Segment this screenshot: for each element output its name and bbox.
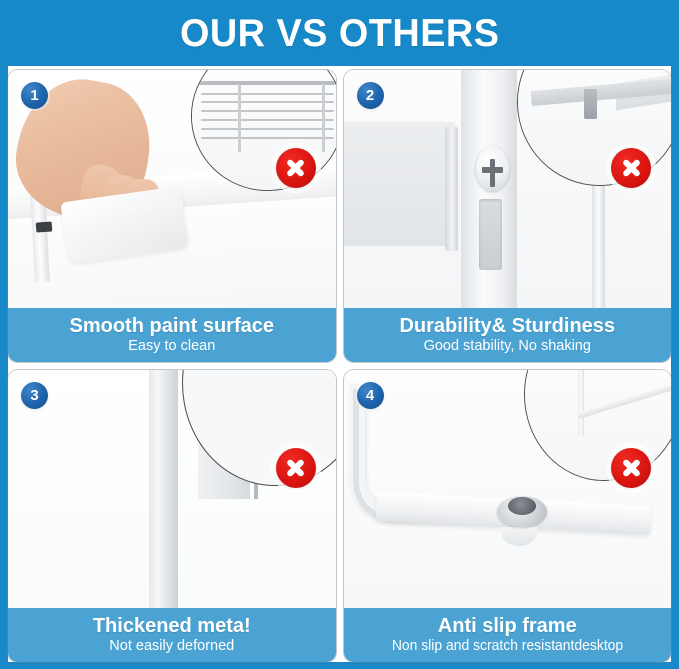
caption-title: Smooth paint surface (70, 315, 274, 337)
panel-number-badge: 4 (357, 382, 384, 409)
x-mark-icon (276, 448, 316, 488)
panel-number-badge: 3 (21, 382, 48, 409)
comparison-infographic: OUR VS OTHERS (0, 0, 679, 669)
caption-subtitle: Easy to clean (128, 338, 215, 355)
rack-wire (201, 110, 334, 112)
bottom-edge-rail (0, 662, 679, 669)
panel-number-badge: 2 (357, 82, 384, 109)
rack-wire (201, 137, 334, 139)
panel-card-2: 2 Durability& Sturdiness Good stability,… (344, 70, 672, 362)
panel-1-photo: 1 (8, 70, 336, 308)
panel-3-photo: 3 (8, 370, 336, 608)
phillips-screw-icon (476, 146, 509, 191)
rack-front-edge (198, 81, 335, 85)
inset-thin-leg-vertical (578, 370, 584, 436)
frame-knob (36, 222, 53, 233)
right-edge-rail (671, 66, 679, 669)
panel-2-caption: Durability& Sturdiness Good stability, N… (344, 308, 672, 362)
panel-grid: 1 Smooth paint surface Easy to clean (8, 70, 671, 662)
inset-weak-bracket (584, 89, 597, 119)
panel-1-caption: Smooth paint surface Easy to clean (8, 308, 336, 362)
x-mark-icon (611, 148, 651, 188)
caption-title: Durability& Sturdiness (399, 315, 615, 337)
rack-wire (201, 128, 334, 130)
panel-number-badge: 1 (21, 82, 48, 109)
side-panel-board (344, 122, 455, 246)
metal-socket-foot (497, 496, 546, 527)
caption-subtitle: Non slip and scratch resistantdesktop (392, 638, 623, 655)
panel-card-1: 1 Smooth paint surface Easy to clean (8, 70, 336, 362)
panel-3-caption: Thickened meta! Not easily deforned (8, 608, 336, 662)
panel-edge-strip (445, 127, 458, 251)
thick-metal-tube (149, 370, 178, 608)
panel-2-photo: 2 (344, 70, 672, 308)
panel-4-caption: Anti slip frame Non slip and scratch res… (344, 608, 672, 662)
socket-inner-hole (508, 497, 536, 515)
left-edge-rail (0, 66, 8, 669)
panel-4-photo: 4 (344, 370, 672, 608)
caption-subtitle: Good stability, No shaking (424, 338, 591, 355)
x-mark-icon (611, 448, 651, 488)
rack-wire (201, 93, 334, 95)
header-banner: OUR VS OTHERS (0, 0, 679, 66)
rack-upright (322, 84, 325, 152)
page-title: OUR VS OTHERS (180, 14, 499, 53)
bracket-slot (479, 199, 502, 270)
rack-wire (201, 119, 334, 121)
panel-card-3: 3 Thickened meta! Not easily deforned (8, 370, 336, 662)
x-mark-icon (276, 148, 316, 188)
rack-upright (238, 84, 241, 152)
caption-title: Anti slip frame (438, 615, 577, 637)
caption-subtitle: Not easily deforned (109, 638, 234, 655)
caption-title: Thickened meta! (93, 615, 251, 637)
panel-card-4: 4 Anti slip frame Non slip and scratch r… (344, 370, 672, 662)
